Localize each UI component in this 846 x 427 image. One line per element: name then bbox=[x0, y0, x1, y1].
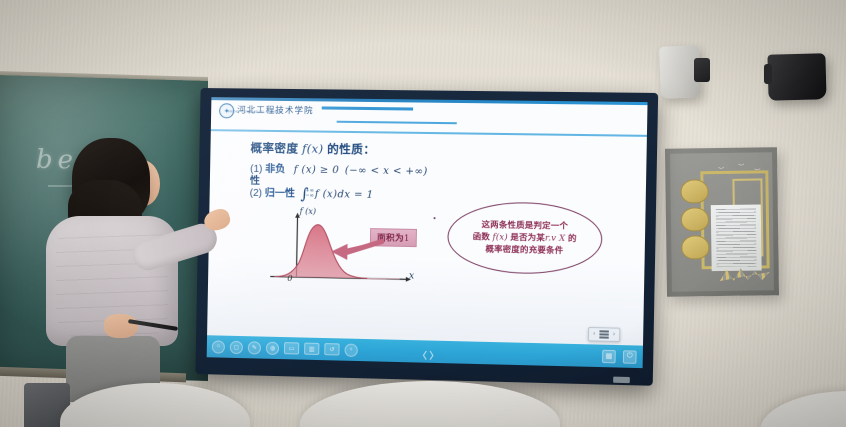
chart-y-axis-label: f (x) bbox=[300, 207, 317, 216]
framed-artwork: ︶ ︶ ︶ bbox=[665, 147, 779, 297]
art-fan-shape-1 bbox=[680, 179, 708, 203]
chart-origin-label: 0 bbox=[287, 274, 292, 283]
callout-line-2-fx: f(x) bbox=[492, 231, 507, 241]
lecturer-holding-hand bbox=[104, 314, 138, 338]
callout-oval: 这两条性质是判定一个 函数 f(x) 是否为某r.v X 的 概率密度的充要条件 bbox=[447, 201, 603, 275]
chart-x-axis-label: x bbox=[409, 271, 414, 281]
property-2-index: (2) bbox=[250, 188, 262, 199]
property-1-label: 非负 bbox=[265, 164, 285, 175]
integral-symbol-icon: ∫ bbox=[300, 185, 308, 203]
lecturer bbox=[28, 138, 196, 400]
display-bezel: ✦ 河北工程技术学院 Hebei Polytechnic Institute 概… bbox=[195, 88, 658, 386]
callout-line-2-b: 是否为某 bbox=[508, 233, 545, 243]
header-accent-bar-1 bbox=[322, 106, 413, 110]
undo-icon[interactable]: ↺ bbox=[324, 343, 339, 355]
display-screen[interactable]: ✦ 河北工程技术学院 Hebei Polytechnic Institute 概… bbox=[207, 97, 648, 368]
art-bird-icon-1: ︶ bbox=[718, 165, 724, 174]
wall-speaker-black-bracket bbox=[764, 64, 772, 84]
display-toolbar[interactable]: ○ ◻ ✎ ◍ ▭ ▥ ↺ ‹ ▦ ⏻ 〈 〉 bbox=[207, 335, 643, 368]
property-1-condition: (−∞ < x < +∞) bbox=[345, 165, 428, 177]
art-fan-shape-2 bbox=[681, 207, 709, 231]
grid-icon[interactable] bbox=[599, 330, 609, 338]
framed-artwork-canvas: ︶ ︶ ︶ bbox=[670, 152, 774, 291]
circle-outline-icon[interactable]: ○ bbox=[212, 340, 225, 353]
apps-icon[interactable]: ▦ bbox=[602, 349, 616, 363]
exit-icon[interactable]: ⏻ bbox=[623, 350, 637, 364]
art-bird-icon-3: ︶ bbox=[754, 166, 760, 175]
property-2-math: f (x)dx = 1 bbox=[315, 189, 374, 201]
presentation-slide: ✦ 河北工程技术学院 Hebei Polytechnic Institute 概… bbox=[207, 97, 648, 368]
art-fan-shape-3 bbox=[681, 235, 709, 259]
slide-title-prefix: 概率密度 bbox=[250, 143, 302, 156]
popup-prev-icon[interactable]: ‹ bbox=[593, 331, 595, 337]
popup-next-icon[interactable]: › bbox=[613, 332, 615, 338]
interactive-display[interactable]: ✦ 河北工程技术学院 Hebei Polytechnic Institute 概… bbox=[195, 88, 658, 386]
header-accent-bar-3 bbox=[211, 129, 647, 136]
toolbar-center-nav[interactable]: 〈 〉 bbox=[418, 348, 439, 362]
callout-line-2-c: 的 bbox=[565, 234, 576, 243]
property-1: (1) 非负 f (x) ≥ 0 (−∞ < x < +∞) bbox=[250, 160, 428, 178]
pen-icon[interactable]: ✎ bbox=[248, 341, 261, 354]
callout-line-2-a: 函数 bbox=[473, 232, 493, 241]
art-bird-icon-2: ︶ bbox=[738, 162, 744, 171]
area-annotation-value: 1 bbox=[404, 234, 410, 244]
area-annotation-arrow-icon bbox=[325, 237, 384, 264]
callout-line-3: 概率密度的充要条件 bbox=[472, 243, 576, 257]
shape-icon[interactable]: ◻ bbox=[230, 340, 243, 353]
display-brand-label bbox=[613, 377, 630, 384]
window-icon[interactable]: ▥ bbox=[304, 343, 319, 355]
capture-icon[interactable]: ▭ bbox=[284, 342, 299, 354]
art-paper-panel bbox=[711, 204, 762, 271]
logo-english-name: Hebei Polytechnic Institute bbox=[228, 109, 283, 114]
chart-tail bbox=[367, 278, 400, 279]
property-1-math: f (x) ≥ 0 bbox=[294, 164, 340, 176]
header-accent-bar-2 bbox=[337, 121, 457, 125]
back-icon[interactable]: ‹ bbox=[344, 343, 357, 356]
slide-title-function: f(x) bbox=[302, 141, 324, 155]
slide-title-suffix: 的性质： bbox=[323, 144, 375, 157]
screenshot-scene: be e ︶ ︶ ︶ ✦ bbox=[0, 0, 846, 427]
slide-title: 概率密度 f(x) 的性质： bbox=[250, 140, 375, 158]
toolbar-left-group: ○ ◻ ✎ ◍ ▭ ▥ ↺ ‹ bbox=[207, 340, 358, 357]
wall-speaker-white-bracket bbox=[694, 58, 710, 82]
toolbar-popup[interactable]: ‹ › bbox=[588, 327, 621, 342]
property-2-label: 归一性 bbox=[265, 188, 295, 200]
eraser-icon[interactable]: ◍ bbox=[266, 341, 279, 354]
property-2: (2) 归一性 ∫+∞−∞f (x)dx = 1 bbox=[250, 184, 374, 201]
wall-speaker-black-icon bbox=[767, 53, 826, 101]
toolbar-right-group: ▦ ⏻ bbox=[602, 349, 643, 363]
callout-line-2-rv: r.v X bbox=[545, 232, 566, 243]
slide-dot-mark bbox=[434, 217, 436, 219]
